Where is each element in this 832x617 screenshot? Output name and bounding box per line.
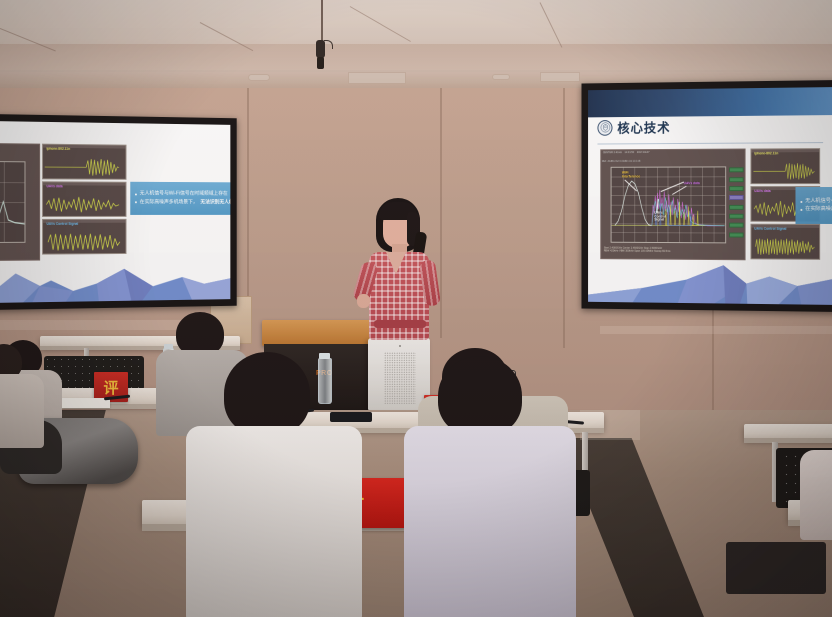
spectrum-header-left: CENTER 2.4GHz — [0, 143, 39, 159]
waveform-panel-3-left: UAVs Control Signal — [42, 219, 126, 255]
ceiling-seam-3 — [540, 2, 563, 47]
callout-line-1-left: 无人机信号与Wi-Fi信号在时域频域上存在 差异性 — [135, 192, 230, 197]
spectrum-footer-line2: RBW 420kHz VBW 300kHz Span 100.00MHz Swe… — [604, 250, 742, 254]
ceiling-vent-1 — [348, 72, 406, 84]
lecture-hall-scene: CENTER 2.4GHz Start 2.4000GHz — [0, 0, 832, 617]
slide-callout-left: 无人机信号与Wi-Fi信号在时域频域上存在 差异性 在实际高噪声多机场景下， 无… — [130, 182, 230, 215]
waveform-panel-1-right: iphone-802.11n — [751, 148, 821, 184]
projection-screen-left: CENTER 2.4GHz Start 2.4000GHz — [0, 114, 237, 310]
projection-screen-right: 核心技术 CENTER 2.4GHz 14:31:53 2017-04-07 R… — [582, 80, 832, 312]
presenter — [352, 198, 448, 340]
podium-indicator-icon — [399, 345, 401, 347]
annotation-leader-ctrl — [656, 199, 662, 213]
desk-leg-4 — [582, 432, 588, 472]
spectrum-footer-left: Start 2.4000GHz Center 2.4500GHz Stop 2.… — [0, 246, 39, 261]
university-logo-icon — [598, 120, 613, 136]
callout-line-1-right: 无人机信号与Wi-Fi信号在时域频域上存在 — [800, 199, 832, 204]
paper-sheet-1 — [62, 398, 110, 408]
bullet-icon — [800, 209, 802, 211]
waveform-label-3-left: UAVs Control Signal — [46, 222, 78, 226]
spectrum-header-date: 2017-04-07 — [637, 151, 650, 154]
presenter-neckline — [386, 252, 406, 274]
spectrum-analyzer-right: CENTER 2.4GHz 14:31:53 2017-04-07 REF -3… — [600, 149, 746, 261]
audience-person-4 — [180, 352, 358, 617]
callout-text-1-right: 无人机信号与Wi-Fi信号在时域频域上存在 — [805, 199, 832, 204]
presenter-belt — [374, 320, 426, 328]
spectrum-header-time: 14:31:53 — [625, 151, 635, 154]
callout-emph-2-left: 无法识别无人机个体 — [200, 200, 230, 205]
ceiling-beam-upper — [0, 44, 832, 70]
slide-decoration-right — [588, 255, 832, 305]
bullet-icon — [135, 193, 137, 195]
slide-header-bar — [588, 87, 832, 118]
spectrum-plot-right: WiFiInterference UAVs data UAVsControlSi… — [611, 166, 726, 243]
audience-person-6-torso — [0, 374, 44, 448]
slide-callout-right: 无人机信号与Wi-Fi信号在时域频域上存在 在实际高噪声多机场景下， — [795, 187, 832, 224]
spectrum-softkey-panel — [729, 166, 744, 243]
audience-person-7 — [800, 450, 832, 540]
hanging-microphone-tip — [317, 57, 324, 69]
wall-highlight-right — [600, 326, 832, 334]
audience-person-7-torso — [800, 450, 832, 540]
callout-text-2-right: 在实际高噪声多机场景下， — [805, 207, 832, 212]
slide-title-row: 核心技术 — [598, 118, 671, 137]
spectrum-header-line2: REF -30dBm Ref 0.00dBm Att 10.0 dB — [602, 160, 641, 163]
projection-screen-left-surface: CENTER 2.4GHz Start 2.4000GHz — [0, 121, 230, 303]
waveform-panel-3-right: UAVs Control Signal — [751, 224, 821, 260]
projection-screen-right-surface: 核心技术 CENTER 2.4GHz 14:31:53 2017-04-07 R… — [588, 87, 832, 305]
audience-person-4-head — [224, 352, 310, 436]
callout-line-2-right: 在实际高噪声多机场景下， — [800, 207, 832, 212]
audience-person-6 — [0, 344, 52, 464]
slide-title-underline — [598, 142, 823, 144]
hanging-microphone-hook — [324, 40, 333, 49]
presenter-right-hand — [357, 294, 370, 308]
slide-right: 核心技术 CENTER 2.4GHz 14:31:53 2017-04-07 R… — [588, 87, 832, 305]
audience-person-5-torso — [404, 426, 576, 617]
hanging-microphone-body — [316, 40, 325, 58]
slide-left: CENTER 2.4GHz Start 2.4000GHz — [0, 121, 230, 303]
spectrum-header-left-text: CENTER 2.4GHz — [603, 151, 622, 154]
annotation-uavs-control-signal: UAVsControlSignal — [654, 212, 665, 222]
waveform-label-3-right: UAVs Control Signal — [754, 227, 786, 231]
chair-right-2 — [726, 542, 826, 594]
ceiling-light-1 — [248, 74, 270, 81]
ceiling-seam-2 — [350, 6, 411, 42]
bullet-icon — [135, 201, 137, 203]
wall-seam-right — [563, 88, 565, 348]
spectrum-analyzer-left: CENTER 2.4GHz Start 2.4000GHz — [0, 142, 40, 261]
callout-text-2-left: 在实际高噪声多机场景下， — [140, 200, 198, 205]
annotation-uavs-data: UAVs data — [684, 182, 700, 186]
waveform-panel-2-left: UAVs data — [42, 181, 126, 217]
annotation-wifi-interference: WiFiInterference — [622, 172, 640, 179]
waveform-panel-1-left: iphone-802.11n — [42, 144, 126, 180]
audience-person-5-head — [438, 356, 522, 436]
callout-text-1-left: 无人机信号与Wi-Fi信号在时域频域上存在 — [140, 192, 228, 197]
waveform-label-1-left: iphone-802.11n — [46, 147, 70, 151]
waveform-label-1-right: iphone-802.11n — [754, 151, 778, 155]
callout-line-2-left: 在实际高噪声多机场景下， 无法识别无人机个体 — [135, 200, 230, 205]
ceiling-vent-2 — [540, 72, 580, 82]
ceiling-light-2 — [492, 74, 510, 80]
audience-person-4-torso — [186, 426, 362, 617]
bullet-icon — [800, 201, 802, 203]
slide-title: 核心技术 — [617, 118, 670, 137]
desk-right-upper-edge — [744, 438, 832, 443]
audience-person-5 — [404, 356, 576, 617]
waveform-label-2-right: UAVs data — [754, 189, 770, 193]
spectrum-plot-left — [0, 161, 25, 243]
hanging-microphone-rod — [321, 0, 323, 42]
waveform-label-2-left: UAVs data — [46, 184, 62, 188]
slide-decoration-left — [0, 261, 230, 303]
